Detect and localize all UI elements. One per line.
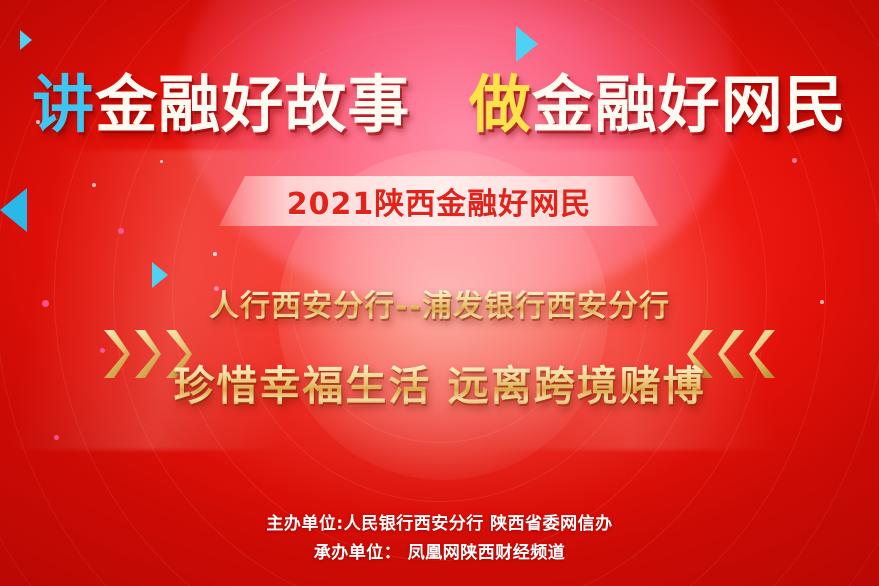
triangle-decoration bbox=[20, 30, 32, 50]
headline-right-phrase: 做金融好网民 bbox=[469, 71, 847, 140]
organizer-line: 人行西安分行--浦发银行西安分行 bbox=[0, 281, 879, 325]
subtitle-text: 2021陕西金融好网民 bbox=[287, 179, 592, 223]
headline-char: 故 bbox=[284, 74, 347, 136]
triangle-decoration bbox=[516, 26, 538, 62]
dot-decoration bbox=[118, 228, 124, 234]
headline-char: 好 bbox=[221, 74, 284, 136]
slogan-line: 珍惜幸福生活 远离跨境赌博 bbox=[0, 352, 879, 412]
footer-line-host: 主办单位:人民银行西安分行 陕西省委网信办 bbox=[0, 510, 879, 539]
slogan-text: 珍惜幸福生活 远离跨境赌博 bbox=[173, 362, 705, 410]
headline-left-phrase: 讲金融好故事 bbox=[32, 71, 410, 140]
headline-char: 融 bbox=[158, 74, 221, 136]
headline-accent-chip bbox=[119, 114, 133, 130]
dot-decoration bbox=[160, 160, 163, 163]
footer-line-organizer: 承办单位： 凤凰网陕西财经频道 bbox=[0, 539, 879, 568]
dot-decoration bbox=[213, 252, 217, 256]
headline-char: 金 bbox=[532, 74, 595, 136]
headline-accent-chip bbox=[180, 112, 193, 129]
headline-char: 好 bbox=[658, 74, 721, 136]
headline-accent-chip bbox=[727, 90, 741, 120]
headline-accent-chip bbox=[814, 96, 840, 124]
headline-char: 做 bbox=[469, 74, 532, 136]
headline-char: 网 bbox=[721, 74, 784, 136]
headline-accent-chip bbox=[536, 68, 570, 81]
headline-char: 金 bbox=[95, 74, 158, 136]
headline-accent-chip bbox=[617, 114, 631, 130]
triangle-decoration bbox=[0, 188, 27, 232]
headline-accent-chip bbox=[251, 92, 281, 104]
headline-char: 民 bbox=[784, 74, 847, 136]
headline-char: 讲 bbox=[32, 74, 95, 136]
organizer-text: 人行西安分行--浦发银行西安分行 bbox=[209, 289, 670, 324]
headline-accent-chip bbox=[353, 70, 387, 80]
subtitle-ribbon: 2021陕西金融好网民 bbox=[219, 176, 659, 226]
headline-char: 融 bbox=[595, 74, 658, 136]
headline-accent-chip bbox=[688, 92, 718, 104]
poster-canvas: 讲金融好故事 做金融好网民 2021陕西金融好网民 人行西安分行--浦发银行西安… bbox=[0, 0, 879, 586]
headline: 讲金融好故事 做金融好网民 bbox=[0, 74, 879, 137]
headline-accent-chip bbox=[99, 68, 133, 81]
dot-decoration bbox=[54, 435, 59, 440]
headline-char: 事 bbox=[347, 74, 410, 136]
footer: 主办单位:人民银行西安分行 陕西省委网信办 承办单位： 凤凰网陕西财经频道 bbox=[0, 510, 879, 568]
dot-decoration bbox=[92, 183, 96, 187]
dot-decoration bbox=[792, 158, 797, 163]
